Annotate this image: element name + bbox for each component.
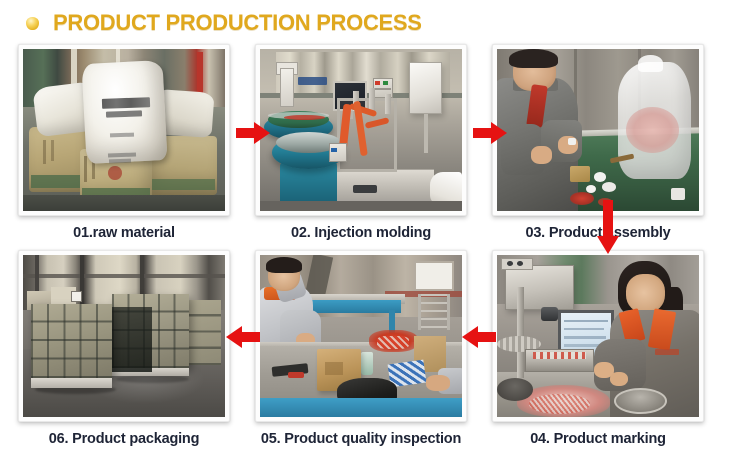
photo-layer-whiteboard xyxy=(414,261,454,290)
photo-layer-pallet-stack xyxy=(185,300,221,365)
photo-layer-bag-tie xyxy=(638,55,662,71)
photo-frame-05[interactable] xyxy=(255,250,467,422)
photo-layer-sack-text xyxy=(84,156,87,182)
step-caption-04: 04. Product marking xyxy=(492,431,704,447)
photo-layer-marking-machine xyxy=(505,265,574,310)
photo-layer-white-part xyxy=(602,182,616,192)
photo-layer-small-item xyxy=(671,188,685,199)
photo-layer-cylinder xyxy=(369,88,375,111)
photo-frame-06[interactable] xyxy=(18,250,230,422)
photo-layer-red-parts xyxy=(570,192,594,205)
photo-layer-uniform-logo xyxy=(655,349,679,355)
photo-frame-02[interactable] xyxy=(255,44,467,216)
photo-layer-cabinet xyxy=(409,62,441,114)
flow-arrow-left-05-to-06 xyxy=(226,326,260,348)
photo-frame-01[interactable] xyxy=(18,44,230,216)
arrow-head-left-icon xyxy=(462,326,478,348)
step-caption-06: 06. Product packaging xyxy=(18,431,230,447)
process-grid: 01.raw material xyxy=(0,44,730,456)
arrow-head-left-icon xyxy=(226,326,242,348)
photo-layer-worker-hand xyxy=(426,375,450,391)
photo-layer-pallet-shade xyxy=(108,307,152,372)
photo-frame-04[interactable] xyxy=(492,250,704,422)
photo-layer-sack-label xyxy=(106,110,143,117)
photo-layer-floor xyxy=(23,195,225,211)
flow-arrow-right-01-to-02 xyxy=(236,122,270,144)
step-caption-01: 01.raw material xyxy=(18,225,230,241)
process-step-01[interactable]: 01.raw material xyxy=(18,44,230,241)
step-caption-02: 02. Injection molding xyxy=(255,225,467,241)
photo-quality-inspection xyxy=(260,255,462,417)
photo-layer-cabinet-pole xyxy=(424,114,428,153)
photo-product-marking xyxy=(497,255,699,417)
photo-layer-tray-parts xyxy=(533,352,586,358)
arrow-shaft xyxy=(603,200,613,240)
photo-layer-bowl xyxy=(614,388,667,414)
photo-injection-molding xyxy=(260,49,462,211)
photo-layer-tool-handle xyxy=(288,372,304,378)
photo-raw-material xyxy=(23,49,225,211)
photo-layer-operator-hand xyxy=(610,372,628,387)
diamond-bullet-icon xyxy=(26,17,39,30)
flow-arrow-left-04-to-05 xyxy=(462,326,496,348)
photo-layer-ladder xyxy=(418,294,450,330)
photo-layer-white-part xyxy=(594,172,606,182)
photo-layer-screen-text xyxy=(564,344,600,347)
photo-layer-worker-hand xyxy=(531,146,551,164)
photo-layer-control-detail xyxy=(375,88,391,90)
arrow-head-right-icon xyxy=(491,122,507,144)
photo-layer-part-in-hand xyxy=(568,138,576,144)
photo-layer-screen-text xyxy=(564,320,608,323)
photo-layer-floor xyxy=(260,201,462,211)
arrow-shaft xyxy=(239,332,260,342)
arrow-head-right-icon xyxy=(254,122,270,144)
photo-layer-carton-marking xyxy=(325,362,343,375)
photo-layer-machine-label xyxy=(298,77,326,85)
photo-layer-parts-pile-detail xyxy=(529,394,590,413)
photo-layer-worker-hair xyxy=(509,49,557,68)
photo-layer-cylinder xyxy=(385,94,391,113)
photo-layer-machine-pole xyxy=(517,287,524,378)
step-caption-05: 05. Product quality inspection xyxy=(255,431,467,447)
photo-layer-bowl xyxy=(497,378,533,401)
photo-layer-side-panel xyxy=(329,143,347,162)
process-step-05[interactable]: 05. Product quality inspection xyxy=(255,250,467,447)
process-step-04[interactable]: 04. Product marking xyxy=(492,250,704,447)
photo-layer-panel-button xyxy=(331,148,337,152)
photo-layer-small-box xyxy=(570,166,590,182)
arrow-shaft xyxy=(475,332,496,342)
photo-layer-sack-band xyxy=(150,179,215,190)
photo-layer-rail xyxy=(23,274,225,277)
photo-layer-operator-face xyxy=(626,274,664,313)
photo-layer-sack-label xyxy=(102,97,151,108)
photo-layer-sack-text xyxy=(51,140,54,161)
flow-arrow-right-02-to-03 xyxy=(473,122,507,144)
photo-frame-03[interactable] xyxy=(492,44,704,216)
photo-layer-red-parts-detail xyxy=(377,336,409,349)
photo-layer-sign xyxy=(71,291,81,302)
photo-layer-laser-lens xyxy=(541,307,557,322)
photo-layer-control-button xyxy=(383,81,388,84)
page-header: PRODUCT PRODUCTION PROCESS xyxy=(0,6,730,40)
photo-product-packaging xyxy=(23,255,225,417)
photo-layer-blue-frame xyxy=(260,398,462,417)
photo-layer-pallet-stack xyxy=(31,304,112,379)
photo-layer-sack-text xyxy=(43,140,46,164)
flow-arrow-down-03-to-04 xyxy=(597,200,619,254)
photo-layer-bottle xyxy=(361,352,373,375)
photo-layer-bag-contents xyxy=(626,107,679,152)
photo-product-assembly xyxy=(497,49,699,211)
process-step-02[interactable]: 02. Injection molding xyxy=(255,44,467,241)
page-title: PRODUCT PRODUCTION PROCESS xyxy=(53,10,422,36)
photo-layer-sack-label xyxy=(108,152,136,157)
photo-layer-white-object xyxy=(430,172,462,204)
photo-layer-control-button xyxy=(375,81,380,84)
photo-layer-pallet-base xyxy=(31,378,112,388)
photo-layer-stamp xyxy=(108,166,122,181)
photo-layer-screen-text xyxy=(564,336,606,339)
arrow-head-down-icon xyxy=(597,236,619,254)
photo-layer-screen-text xyxy=(564,328,604,331)
photo-layer-worker-hair xyxy=(266,257,302,273)
photo-layer-base-slot xyxy=(353,185,377,193)
photo-layer-machine-column xyxy=(280,68,294,107)
process-step-06[interactable]: 06. Product packaging xyxy=(18,250,230,447)
